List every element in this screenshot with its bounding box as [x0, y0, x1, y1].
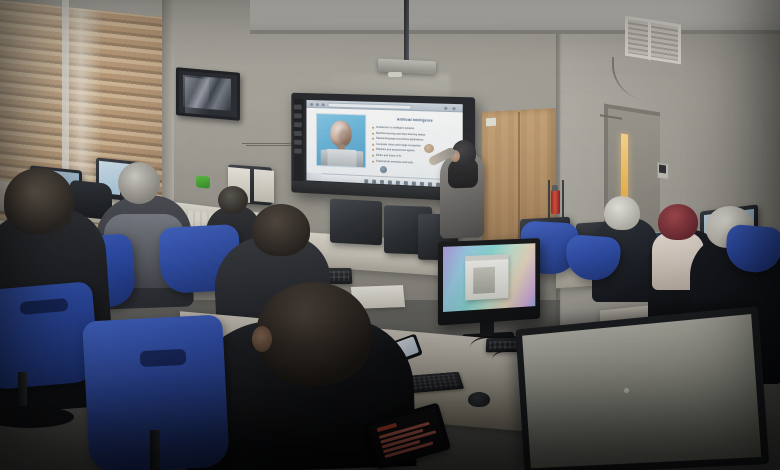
- center-monitor[interactable]: [438, 238, 540, 325]
- smartboard-volume-up-button[interactable]: [294, 131, 302, 136]
- redo-icon[interactable]: [404, 181, 408, 185]
- eraser-icon[interactable]: [372, 179, 376, 183]
- browser-menu-icon[interactable]: [444, 106, 447, 109]
- projector-mount-pole: [404, 0, 409, 62]
- browser-back-icon[interactable]: [310, 103, 313, 106]
- foreground-attendee-ear: [252, 326, 272, 352]
- pen-icon[interactable]: [364, 179, 368, 183]
- smartboard-power-button[interactable]: [294, 105, 302, 110]
- shape-icon[interactable]: [380, 179, 384, 183]
- chair-handle-slot: [140, 349, 187, 367]
- robot-arm-right: [356, 151, 363, 168]
- document-preview: [473, 267, 495, 294]
- foreground-monitor[interactable]: [515, 306, 769, 470]
- chair-base: [0, 406, 74, 428]
- robot-image: [316, 113, 366, 168]
- attendee-head: [218, 186, 248, 214]
- text-icon[interactable]: [388, 180, 392, 184]
- ceiling: [250, 0, 780, 34]
- attendee-head: [658, 204, 698, 240]
- classroom-photo-scene: Artificial Intelligence Introduction to …: [0, 0, 780, 470]
- attendee-head: [118, 162, 160, 204]
- save-icon[interactable]: [428, 182, 432, 186]
- screen-glare: [185, 77, 209, 115]
- mouse[interactable]: [468, 392, 490, 407]
- vent-divider: [648, 20, 651, 60]
- slide-title: Artificial Intelligence: [378, 117, 452, 123]
- door-center-seam: [518, 112, 520, 238]
- attendee-head: [252, 204, 310, 256]
- ceiling-edge: [250, 30, 780, 34]
- smartboard-menu-button[interactable]: [294, 122, 302, 127]
- slide-canvas: Artificial Intelligence Introduction to …: [306, 108, 462, 180]
- robot-torso: [326, 149, 358, 169]
- robot-face-shading: [338, 129, 350, 145]
- fire-extinguisher-valve: [552, 185, 558, 191]
- smartboard-input-button[interactable]: [294, 148, 302, 153]
- wall-tv: [176, 67, 240, 121]
- wall-switch-face[interactable]: [659, 164, 666, 173]
- door-sign: [486, 118, 496, 127]
- presenter-hand: [424, 144, 434, 153]
- presentation-logo-icon: [380, 166, 387, 173]
- attendee-head: [4, 168, 74, 234]
- monitor: [330, 199, 382, 246]
- browser-close-icon[interactable]: [452, 106, 455, 109]
- smartboard-source-button[interactable]: [294, 113, 302, 118]
- monitor-screen[interactable]: [443, 243, 535, 312]
- browser-forward-icon[interactable]: [316, 103, 319, 106]
- smartboard-volume-down-button[interactable]: [294, 140, 302, 145]
- fire-extinguisher: [551, 190, 560, 214]
- select-icon[interactable]: [412, 181, 416, 185]
- undo-icon[interactable]: [396, 180, 400, 184]
- zoom-icon[interactable]: [420, 181, 424, 185]
- chair-post: [150, 430, 160, 470]
- robot-arm-left: [321, 150, 328, 168]
- green-desk-object: [196, 175, 210, 188]
- foreground-attendee-head: [256, 282, 372, 386]
- pc-tower: [254, 169, 274, 203]
- monitor-power-led: [624, 388, 629, 393]
- attendee-head: [604, 196, 640, 230]
- browser-reload-icon[interactable]: [322, 103, 325, 106]
